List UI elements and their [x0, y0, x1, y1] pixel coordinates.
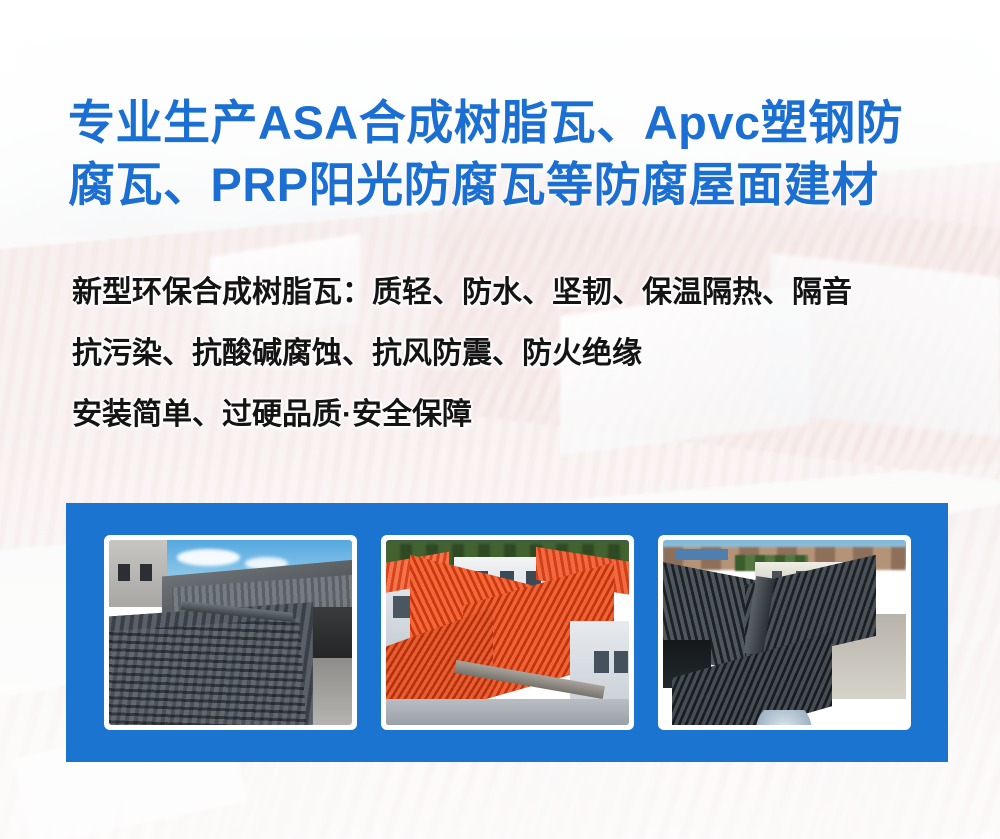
photo1-main-tile-texture [109, 618, 307, 725]
gallery-photo-2-image [386, 540, 629, 725]
photo2-right-window-2 [614, 651, 629, 673]
headline-line-1: 专业生产ASA合成树脂瓦、Apvc塑钢防 [68, 92, 948, 154]
photo2-ground [386, 699, 629, 725]
photo2-left-window [393, 596, 410, 618]
gallery-photo-2 [381, 535, 634, 730]
gallery-photo-1-image [109, 540, 352, 725]
gallery-photo-1 [104, 535, 357, 730]
photo2-right-window-1 [594, 651, 609, 673]
photo1-window-1 [118, 564, 130, 581]
headline-line-2: 腐瓦、PRP阳光防腐瓦等防腐屋面建材 [68, 154, 948, 216]
feature-line-3: 安装简单、过硬品质·安全保障 [72, 384, 972, 445]
banner-content: 专业生产ASA合成树脂瓦、Apvc塑钢防 腐瓦、PRP阳光防腐瓦等防腐屋面建材 … [0, 0, 1000, 839]
feature-line-2: 抗污染、抗酸碱腐蚀、抗风防震、防火绝缘 [72, 323, 972, 384]
photo-gallery-frame [66, 503, 948, 762]
photo1-window-2 [140, 564, 152, 581]
feature-line-1: 新型环保合成树脂瓦：质轻、防水、坚韧、保温隔热、隔音 [72, 262, 972, 323]
photo3-blue-roof [675, 549, 728, 560]
gallery-photo-3-image [663, 540, 906, 725]
product-promo-banner: 专业生产ASA合成树脂瓦、Apvc塑钢防 腐瓦、PRP阳光防腐瓦等防腐屋面建材 … [0, 0, 1000, 839]
photo3-foreground-fan [750, 710, 818, 725]
headline: 专业生产ASA合成树脂瓦、Apvc塑钢防 腐瓦、PRP阳光防腐瓦等防腐屋面建材 [68, 92, 948, 216]
gallery-photo-3 [658, 535, 911, 730]
photo1-cloud-left [177, 549, 240, 566]
feature-list: 新型环保合成树脂瓦：质轻、防水、坚韧、保温隔热、隔音 抗污染、抗酸碱腐蚀、抗风防… [72, 262, 972, 445]
